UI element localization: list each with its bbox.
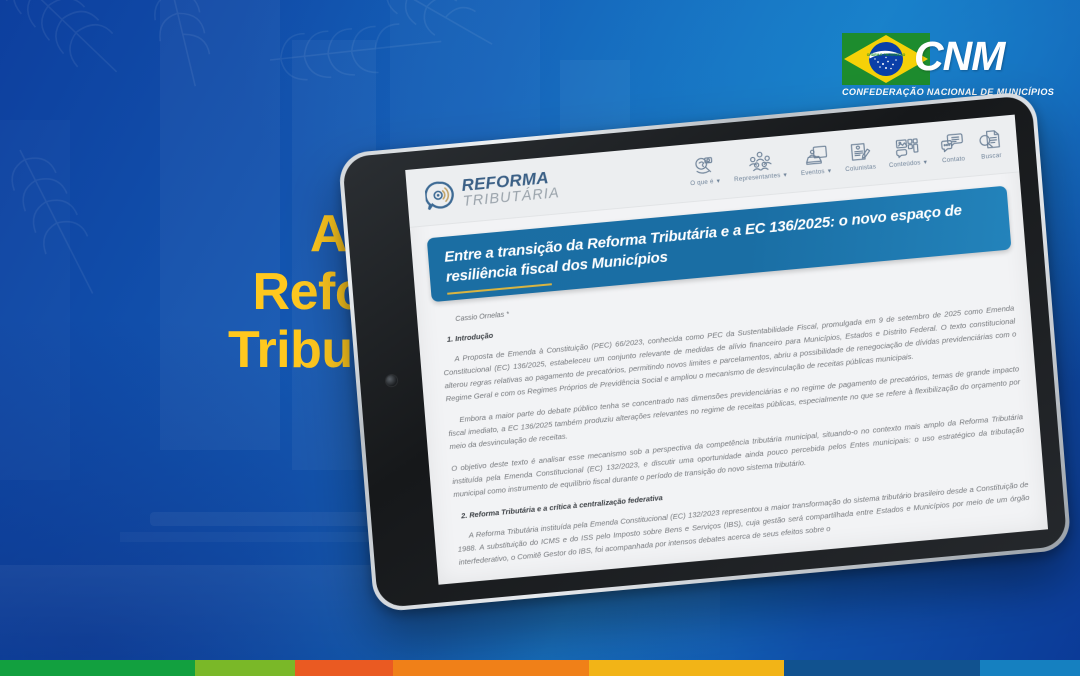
search-document-icon [977,128,1004,152]
nav-label: Conteúdos▼ [889,159,929,170]
nav-item-representantes[interactable]: Representantes▼ [732,147,788,183]
reforma-tributaria-logo[interactable]: REFORMA TRIBUTÁRIA [424,168,560,213]
chevron-down-icon: ▼ [826,168,832,174]
bottom-color-strip [0,660,1080,676]
strip-segment-5 [784,660,980,676]
chevron-down-icon: ▼ [922,160,928,166]
tablet-bezel: REFORMA TRIBUTÁRIA [342,95,1067,608]
site-navigation: O que é▼ [688,128,1004,189]
nav-label: Colunistas [845,163,876,173]
reforma-tributaria-mark-icon [424,179,456,212]
nav-item-buscar[interactable]: Buscar [977,128,1004,161]
camera-icon [386,375,398,387]
nav-item-o-que-e[interactable]: O que é▼ [688,154,721,188]
nav-label: Contato [942,155,966,164]
tablet-screen: REFORMA TRIBUTÁRIA [405,115,1048,585]
nav-label: O que é▼ [690,177,722,187]
tablet-device: REFORMA TRIBUTÁRIA [338,91,1072,613]
strip-segment-0 [0,660,195,676]
nav-item-contato[interactable]: Contato [939,131,966,164]
strip-segment-1 [195,660,295,676]
nav-item-eventos[interactable]: Eventos▼ [799,143,833,177]
pen-paper-icon [846,140,873,164]
strip-segment-3 [393,660,589,676]
cnm-acronym: CNM [914,36,1004,77]
article-body: Cassio Ornelas * 1. Introdução A Propost… [416,248,1047,571]
nav-label: Representantes▼ [734,171,788,183]
nav-label: Buscar [981,152,1002,161]
strip-segment-4 [589,660,784,676]
chevron-down-icon: ▼ [715,178,721,184]
calendar-podium-icon [802,144,829,168]
nav-item-conteudos[interactable]: Conteúdos▼ [887,135,929,169]
strip-segment-2 [295,660,393,676]
flag-motto-text: ORDEM E PROGRESSO [867,53,906,57]
tablet-outer-frame: REFORMA TRIBUTÁRIA [338,91,1072,613]
strip-segment-6 [980,660,1080,676]
money-magnifier-icon [691,154,718,178]
media-grid-icon [894,135,921,159]
nav-label: Eventos▼ [801,167,833,177]
chevron-down-icon: ▼ [782,172,788,178]
people-group-icon [746,149,773,173]
chat-bubbles-icon [939,131,966,155]
nav-item-colunistas[interactable]: Colunistas [843,139,876,173]
